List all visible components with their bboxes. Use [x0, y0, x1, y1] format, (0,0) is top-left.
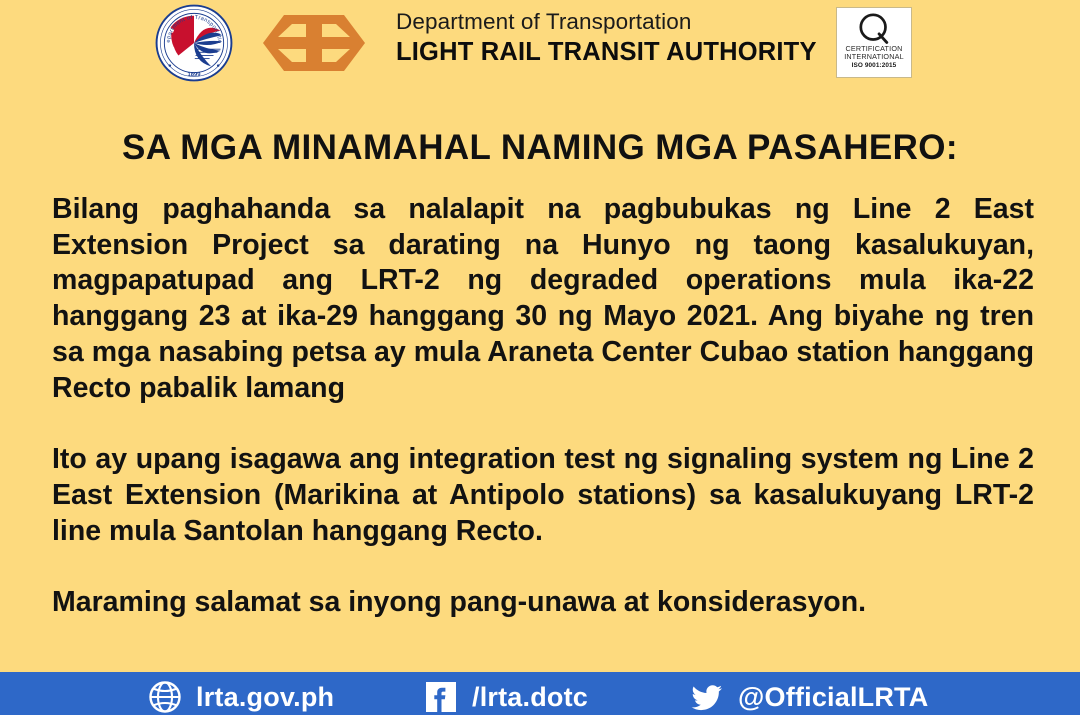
social-footer-bar: lrta.gov.ph /lrta.dotc @OfficialLRTA: [0, 672, 1080, 715]
globe-icon: [148, 680, 182, 714]
twitter-label: @OfficialLRTA: [738, 682, 928, 713]
footer-item-facebook[interactable]: /lrta.dotc: [424, 680, 588, 714]
body-paragraph-2: Ito ay upang isagawa ang integration tes…: [52, 442, 1034, 549]
paragraph-spacer: [52, 549, 1034, 585]
footer-item-twitter[interactable]: @OfficialLRTA: [690, 680, 928, 714]
paragraph-spacer: [52, 406, 1034, 442]
facebook-label: /lrta.dotc: [472, 682, 588, 713]
iso-certification-badge: CERTIFICATION INTERNATIONAL ISO 9001:201…: [836, 7, 912, 78]
svg-text:1899: 1899: [187, 72, 201, 78]
body-paragraph-1: Bilang paghahanda sa nalalapit na pagbub…: [52, 192, 1034, 406]
lrta-hexagon-logo-icon: [262, 14, 366, 72]
certification-q-mark-icon: [857, 11, 891, 45]
facebook-icon: [424, 680, 458, 714]
dotr-seal-icon: Department of Transportation 1899: [155, 4, 233, 82]
certification-line-2: INTERNATIONAL: [844, 53, 904, 61]
department-name: Department of Transportation: [396, 8, 826, 36]
authority-name: LIGHT RAIL TRANSIT AUTHORITY: [396, 36, 826, 68]
twitter-icon: [690, 680, 724, 714]
website-label: lrta.gov.ph: [196, 682, 334, 713]
agency-name-block: Department of Transportation LIGHT RAIL …: [396, 8, 826, 68]
footer-item-website[interactable]: lrta.gov.ph: [148, 680, 334, 714]
announcement-body: Bilang paghahanda sa nalalapit na pagbub…: [52, 192, 1034, 621]
body-paragraph-3: Maraming salamat sa inyong pang-unawa at…: [52, 585, 1034, 621]
page-header: Department of Transportation 1899 Depart…: [0, 0, 1080, 92]
announcement-headline: SA MGA MINAMAHAL NAMING MGA PASAHERO:: [0, 126, 1080, 170]
certification-iso-standard: ISO 9001:2015: [852, 62, 897, 70]
